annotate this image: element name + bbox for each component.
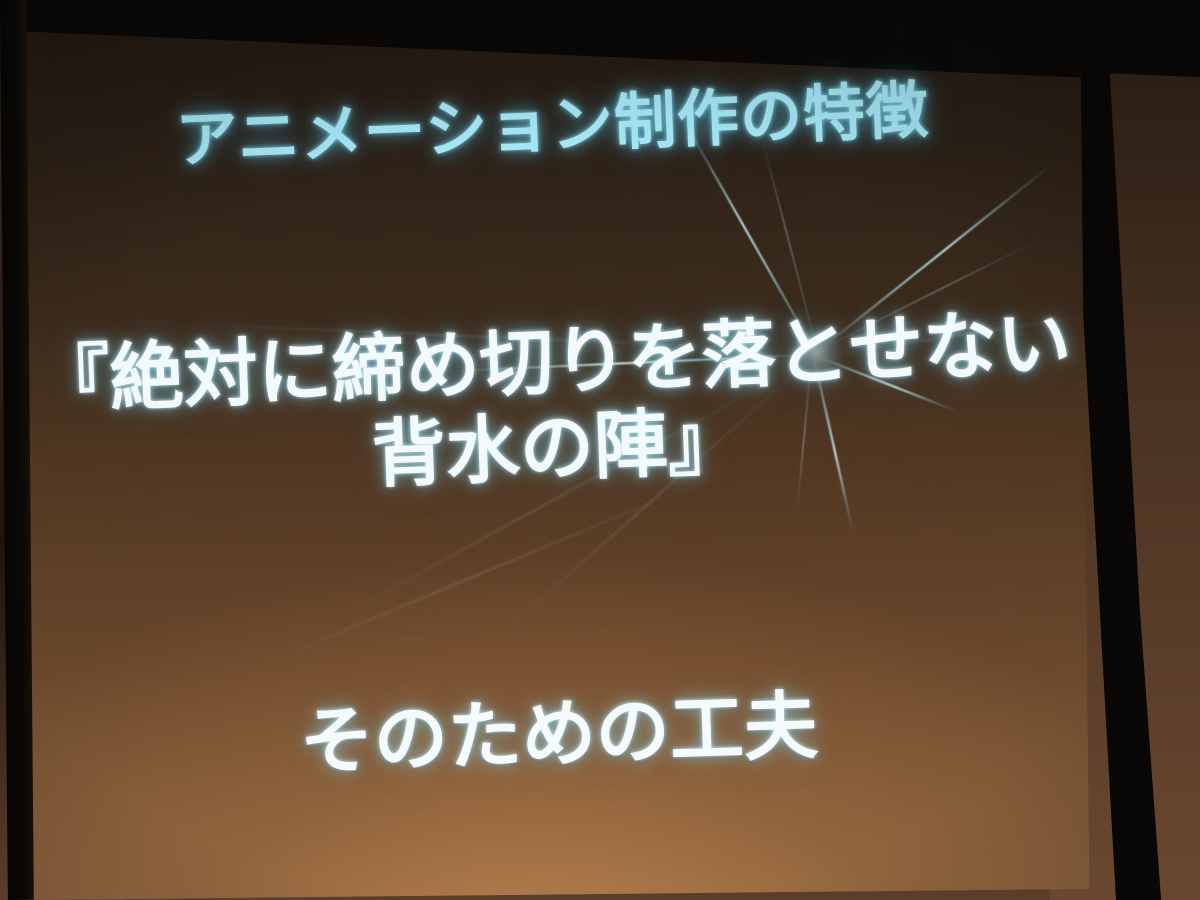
flare-streak-up xyxy=(759,129,818,352)
photo-grain xyxy=(22,0,1089,900)
flare-streak-bottom-left xyxy=(247,471,727,672)
flare-streak-up-right-2 xyxy=(818,238,1042,351)
flare-core-glow xyxy=(789,325,844,380)
flare-streak-left-far xyxy=(110,320,809,350)
flare-streak-down-left-2 xyxy=(493,362,808,642)
slide-body-line-1: 『絶対に締め切りを落とせない xyxy=(23,301,1083,426)
projection-screen: アニメーション制作の特徴 『絶対に締め切りを落とせない 背水の陣』 そのための工… xyxy=(22,0,1089,900)
slide-content: アニメーション制作の特徴 『絶対に締め切りを落とせない 背水の陣』 そのための工… xyxy=(22,0,1089,900)
flare-streak-up-right xyxy=(818,163,1054,352)
slide-body-line-2: 背水の陣』 xyxy=(27,386,1087,511)
screen-top-shadow xyxy=(22,0,1089,85)
slide-body: 『絶対に締め切りを落とせない 背水の陣』 xyxy=(23,301,1087,512)
slide-footer-line: そのための工夫 xyxy=(28,658,1089,798)
flare-streak-down-right xyxy=(817,356,957,413)
flare-streak-down-2 xyxy=(796,356,812,515)
slide-title: アニメーション制作の特徴 xyxy=(22,53,1083,185)
flare-streak-left xyxy=(452,354,812,372)
flare-streak-down xyxy=(813,357,854,533)
flare-streak-right xyxy=(821,314,1090,357)
screen-vignette xyxy=(22,0,1089,900)
flare-streak-up-left xyxy=(681,117,816,353)
flare-streak-down-left xyxy=(318,360,810,629)
photo-canvas: アニメーション制作の特徴 『絶対に締め切りを落とせない 背水の陣』 そのための工… xyxy=(0,0,1200,900)
lens-flare-streaks xyxy=(22,0,1089,900)
